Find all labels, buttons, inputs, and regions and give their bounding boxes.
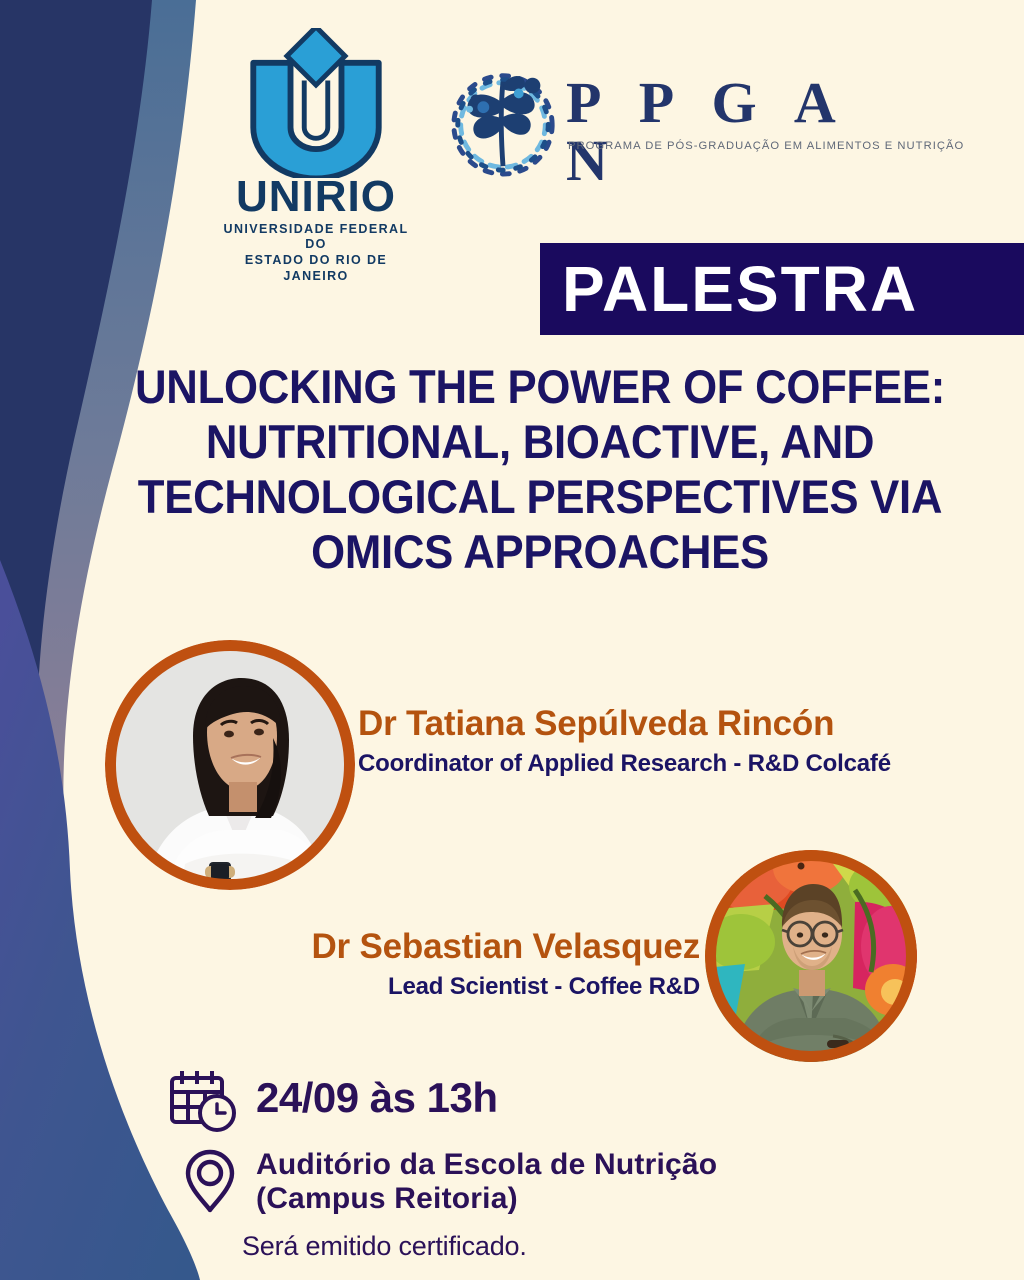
location-row: Auditório da Escola de Nutrição (Campus … [182, 1146, 717, 1216]
speaker-info-sebastian: Dr Sebastian Velasquez Lead Scientist - … [150, 928, 700, 1002]
location-text: Auditório da Escola de Nutrição (Campus … [256, 1148, 717, 1215]
date-time-text: 24/09 às 13h [256, 1074, 498, 1121]
speaker-role: Coordinator of Applied Research - R&D Co… [358, 749, 998, 779]
unirio-subtitle: UNIVERSIDADE FEDERAL DO ESTADO DO RIO DE… [218, 222, 414, 285]
date-row: 24/09 às 13h [168, 1068, 498, 1134]
event-poster: UNIRIO UNIVERSIDADE FEDERAL DO ESTADO DO… [0, 0, 1024, 1280]
calendar-clock-icon [168, 1068, 240, 1134]
unirio-mark-icon [218, 28, 414, 178]
speaker-photo-ring [705, 850, 917, 1062]
speaker-photo-sebastian [705, 850, 917, 1062]
speaker-info-tatiana: Dr Tatiana Sepúlveda Rincón Coordinator … [358, 705, 998, 779]
map-pin-icon [182, 1146, 238, 1216]
unirio-wordmark: UNIRIO [218, 176, 414, 218]
speaker-name: Dr Tatiana Sepúlveda Rincón [358, 705, 998, 744]
speaker-photo-ring [105, 640, 355, 890]
logo-row: UNIRIO UNIVERSIDADE FEDERAL DO ESTADO DO… [0, 18, 1024, 218]
speaker-name: Dr Sebastian Velasquez [150, 928, 700, 967]
ppgan-subtitle: PROGRAMA DE PÓS-GRADUAÇÃO EM ALIMENTOS E… [568, 140, 964, 152]
palestra-banner: PALESTRA [540, 243, 1024, 335]
talk-title: UNLOCKING THE POWER OF COFFEE: NUTRITION… [122, 360, 959, 580]
ppgan-sprout-dna-icon [444, 60, 562, 178]
speaker-photo-tatiana [105, 640, 355, 890]
palestra-label: PALESTRA [562, 257, 918, 321]
unirio-logo: UNIRIO UNIVERSIDADE FEDERAL DO ESTADO DO… [218, 28, 414, 284]
ppgan-wordmark: P P G A N [566, 74, 864, 190]
ppgan-logo: P P G A N PROGRAMA DE PÓS-GRADUAÇÃO EM A… [444, 60, 864, 180]
certificate-note: Será emitido certificado. [242, 1232, 527, 1262]
speaker-role: Lead Scientist - Coffee R&D [150, 972, 700, 1002]
